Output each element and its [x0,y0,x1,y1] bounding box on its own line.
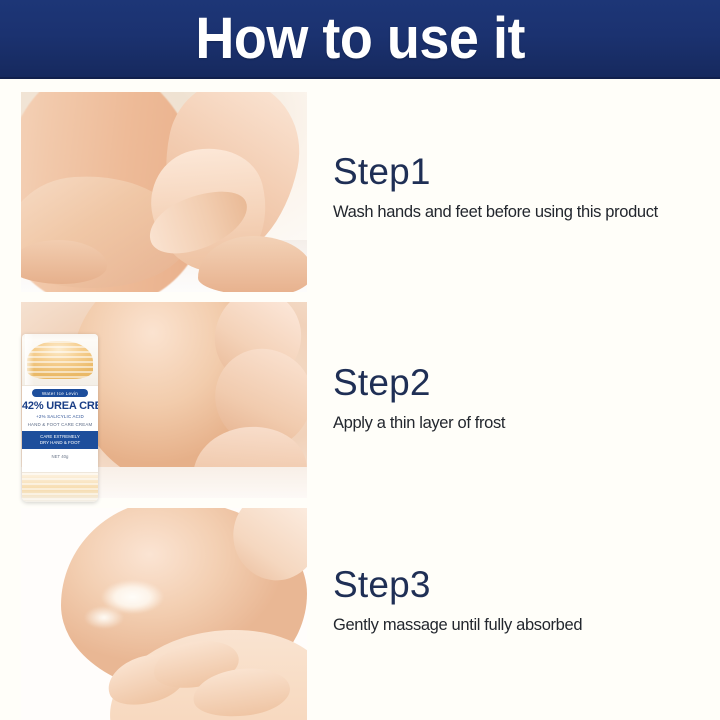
product-base [22,472,98,502]
product-claim-line-2: DRY HAND & FOOT [22,440,98,446]
step-1-photo [21,92,307,292]
product-cream-fill [27,341,94,379]
step-3-text-block: Step3 Gently massage until fully absorbe… [333,565,582,636]
product-gloss-highlight [25,334,34,385]
step-2-description: Apply a thin layer of frost [333,412,505,434]
cream-smear-2 [84,606,124,629]
step-1-text-block: Step1 Wash hands and feet before using t… [333,152,658,223]
step-3-title: Step3 [333,565,582,605]
product-claim-band: CARE EXTREMELY DRY HAND & FOOT [22,431,98,449]
product-category-label: HAND & FOOT CARE CREAM [22,422,98,427]
step-2-title: Step2 [333,363,505,403]
product-cap [22,334,98,386]
product-brand-label: Water Ice Levin [32,389,88,397]
product-ingredient-label: +2% SALICYLIC ACID [22,414,98,419]
page-title: How to use it [195,10,525,68]
step-3-description: Gently massage until fully absorbed [333,614,582,636]
step-1-description: Wash hands and feet before using this pr… [333,201,658,223]
page-header-banner: How to use it [0,0,720,79]
product-package: Water Ice Levin 42% UREA CREAM +2% SALIC… [22,334,98,502]
step-3-photo [21,508,307,720]
product-name-label: 42% UREA CREAM [22,400,98,412]
step-2-text-block: Step2 Apply a thin layer of frost [333,363,505,434]
product-net-weight-label: NET 40g [22,454,98,459]
step-1-title: Step1 [333,152,658,192]
